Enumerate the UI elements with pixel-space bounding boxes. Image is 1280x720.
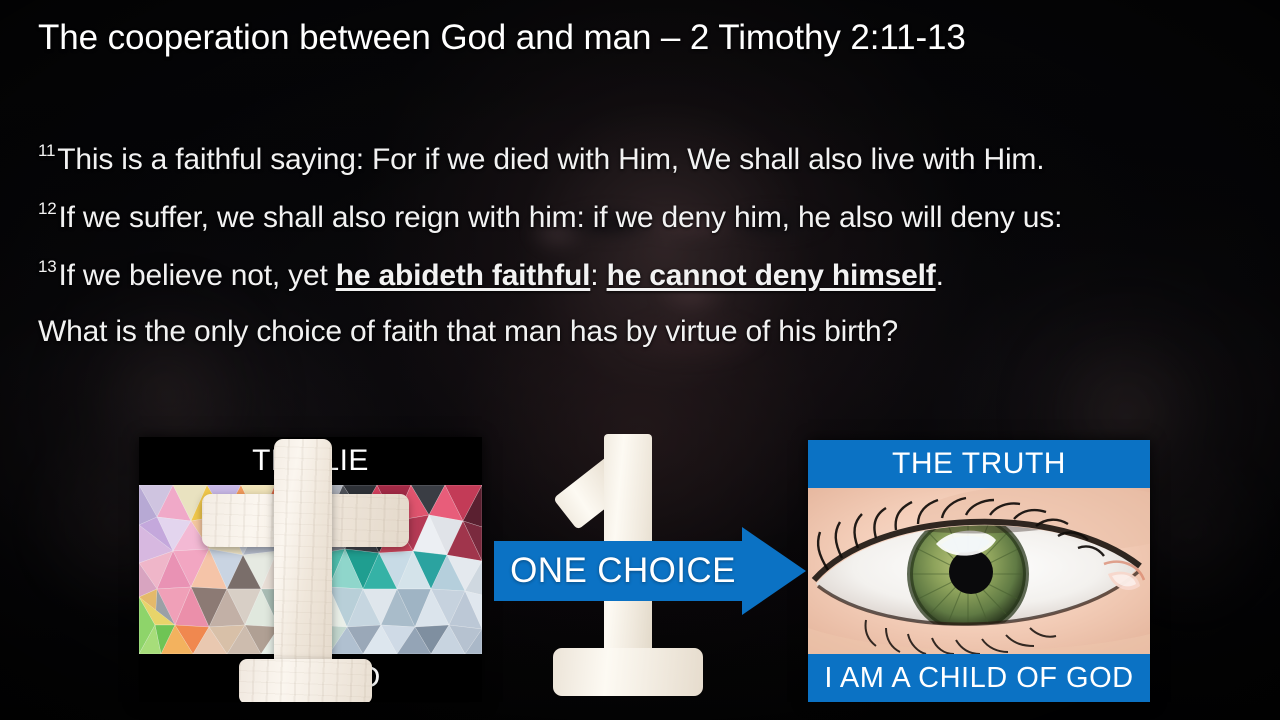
verse-text-12: If we suffer, we shall also reign with h… xyxy=(59,201,1063,234)
truth-card-bottom-label: I AM A CHILD OF GOD xyxy=(808,654,1150,702)
verse-number-13: 13 xyxy=(38,257,57,276)
verse-text-11: This is a faithful saying: For if we die… xyxy=(57,143,1044,176)
verse-13-separator: : xyxy=(590,259,606,292)
verse-13-lead: If we believe not, yet xyxy=(59,259,336,292)
truth-card-image xyxy=(808,488,1150,654)
slide-title: The cooperation between God and man – 2 … xyxy=(38,18,966,58)
presentation-slide: The cooperation between God and man – 2 … xyxy=(0,0,1280,720)
lie-card-top-label: THE LIE xyxy=(139,437,482,485)
verse-number-11: 11 xyxy=(38,141,55,160)
truth-card[interactable]: THE TRUTH I AM A CHILD OF GOD xyxy=(808,440,1150,702)
verse-13-tail: . xyxy=(936,259,944,292)
lie-card-bottom-label: I AM GOD xyxy=(139,654,482,702)
scripture-verse-12: 12If we suffer, we shall also reign with… xyxy=(38,199,1062,235)
scripture-verse-13: 13If we believe not, yet he abideth fait… xyxy=(38,257,944,293)
low-poly-mosaic-graphic xyxy=(139,485,482,654)
green-eye-graphic xyxy=(808,488,1150,654)
verse-number-12: 12 xyxy=(38,199,57,218)
scripture-verse-11: 11This is a faithful saying: For if we d… xyxy=(38,141,1044,177)
one-choice-label: ONE CHOICE xyxy=(494,527,752,615)
lie-card[interactable]: THE LIE I AM GOD xyxy=(139,437,482,702)
question-text: What is the only choice of faith that ma… xyxy=(38,315,898,349)
truth-card-top-label: THE TRUTH xyxy=(808,440,1150,488)
one-choice-arrow[interactable]: ONE CHOICE xyxy=(494,527,806,615)
verse-13-emphasis-abideth: he abideth faithful xyxy=(336,259,591,292)
verse-13-emphasis-deny: he cannot deny himself xyxy=(607,259,936,292)
lie-card-image xyxy=(139,485,482,654)
